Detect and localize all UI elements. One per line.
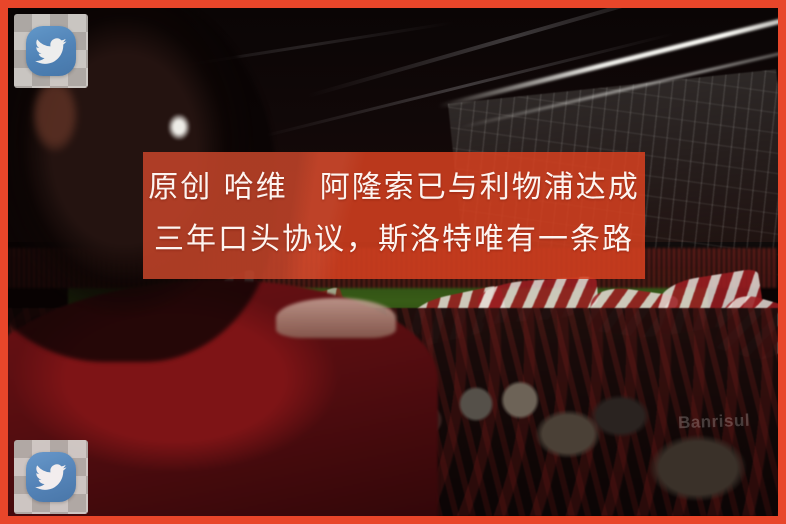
headline-line-2: 三年口头协议，斯洛特唯有一条路 [154,214,634,266]
screenshot-root: Banrisul .sul 原创 哈维 阿隆索已与利物浦达成 三年口头协议，斯洛… [0,0,786,524]
twitter-bird-icon [26,26,76,76]
silhouette-ear [32,78,78,152]
twitter-bird-icon [26,452,76,502]
headline-banner: 原创 哈维 阿隆索已与利物浦达成 三年口头协议，斯洛特唯有一条路 [143,152,645,279]
foreground-hand [276,298,396,338]
twitter-watermark-top[interactable] [14,14,88,88]
phone-screen-glint [168,114,190,140]
headline-line-1: 原创 哈维 阿隆索已与利物浦达成 [148,162,640,214]
twitter-watermark-bottom[interactable] [14,440,88,514]
